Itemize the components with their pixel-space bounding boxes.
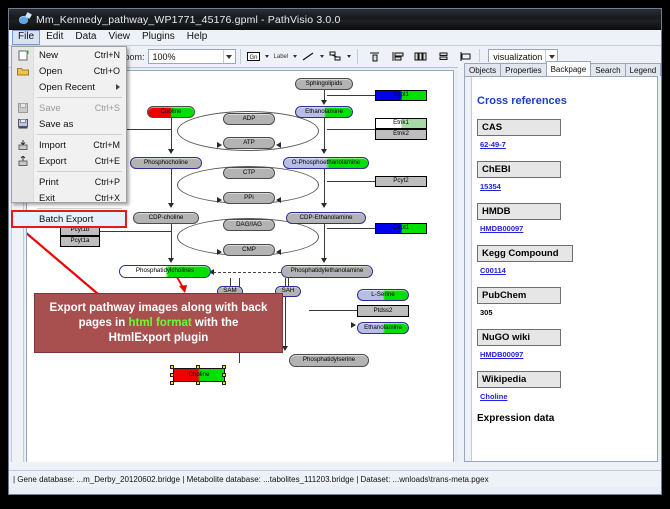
callout-line2-suffix: with the <box>192 317 239 329</box>
callout-line1: Export pathway images along with back <box>50 302 268 314</box>
distribute-vertical-icon[interactable] <box>435 49 451 65</box>
submenu-chevron-right-icon <box>116 84 120 90</box>
file-menu-open-label: Open <box>34 66 94 77</box>
arrow-loop-ppi-right <box>276 197 281 203</box>
file-menu-item-open-recent[interactable]: Open Recent <box>12 79 126 95</box>
statusbar-spacer <box>9 462 661 470</box>
node-ethanolamine-bottom[interactable]: Ethanolamine <box>357 322 409 334</box>
node-label: Ethanolamine <box>305 109 343 115</box>
arrow-to-ethanolamine-release <box>351 322 356 328</box>
label-chevron-down-icon[interactable] <box>290 49 299 65</box>
svg-text:Gn: Gn <box>250 55 258 61</box>
arrow-to-cdpethanolamine <box>321 203 327 208</box>
file-menu-batch-export-label: Batch Export <box>34 214 126 225</box>
menu-help[interactable]: Help <box>181 30 214 45</box>
open-folder-icon <box>12 63 34 79</box>
statusbar: | Gene database: ...m_Derby_20120602.bri… <box>9 470 661 487</box>
callout-line2-prefix: pages in <box>79 317 129 329</box>
node-ctp[interactable]: CTP <box>223 167 275 179</box>
edge-ophospho-cdpetn <box>324 169 325 205</box>
file-menu-item-new[interactable]: New Ctrl+N <box>12 47 126 63</box>
node-choline-top[interactable]: Choline <box>147 106 195 118</box>
xref-block-hmdb: HMDB HMDB00097 <box>477 203 655 233</box>
xref-block-wikipedia: Wikipedia Choline <box>477 371 655 401</box>
node-phosphatidylethanolamine[interactable]: Phosphatidylethanolamine <box>281 265 373 278</box>
node-label: CMP <box>242 247 256 253</box>
gene-label: Ptdss2 <box>374 308 393 314</box>
file-menu-item-exit[interactable]: Exit Ctrl+X <box>12 190 126 206</box>
side-panel-tabs: Objects Properties Backpage Search Legen… <box>464 62 658 77</box>
xref-source-wikipedia: Wikipedia <box>477 371 561 388</box>
gene-label: Etnk1 <box>393 120 409 126</box>
visualization-value: visualization <box>493 52 545 62</box>
xref-value-cas[interactable]: 62-49-7 <box>480 140 655 149</box>
file-menu-exit-label: Exit <box>34 193 95 204</box>
export-icon <box>12 153 34 169</box>
file-menu-import-shortcut: Ctrl+M <box>93 140 126 150</box>
edge-choline-phosphocholine <box>171 118 172 152</box>
interaction-tool-icon[interactable] <box>327 49 343 65</box>
file-menu-separator-3 <box>37 171 122 172</box>
selection-handle-e[interactable] <box>222 373 226 377</box>
callout-line2-highlight: html format <box>128 317 191 329</box>
gene-label: Etnk2 <box>393 131 409 137</box>
xref-value-wikipedia[interactable]: Choline <box>480 392 655 401</box>
xref-block-kegg: Kegg Compound C00114 <box>477 245 655 275</box>
file-menu-item-save: Save Ctrl+S <box>12 100 126 116</box>
file-menu-save-as-label: Save as <box>34 119 120 130</box>
node-dag-iag[interactable]: DAG/IAG <box>223 219 275 231</box>
blank-icon <box>12 79 34 95</box>
zoom-combobox[interactable]: 100% <box>148 49 236 64</box>
selection-handle-w[interactable] <box>170 373 174 377</box>
node-adp[interactable]: ADP <box>223 113 275 125</box>
node-sphingolipids[interactable]: Sphingolipids <box>295 78 353 90</box>
file-menu-save-label: Save <box>34 103 95 114</box>
xref-source-kegg: Kegg Compound <box>477 245 573 262</box>
label-tool-text: Label <box>274 54 289 60</box>
xref-value-kegg[interactable]: C00114 <box>480 266 655 275</box>
node-label: ATP <box>243 140 255 146</box>
file-menu-print-shortcut: Ctrl+P <box>95 177 126 187</box>
file-menu-separator-2 <box>37 134 122 135</box>
pathvisio-icon <box>18 13 31 26</box>
node-cmp[interactable]: CMP <box>223 244 275 256</box>
gene-label: Sgpl1 <box>393 92 409 98</box>
xref-block-nugo: NuGO wiki HMDB00097 <box>477 329 655 359</box>
arrow-to-ophosphoethanolamine <box>321 149 327 154</box>
file-menu-print-label: Print <box>34 177 95 188</box>
line-tool-icon[interactable] <box>300 49 316 65</box>
arrow-loop-cmp-left <box>217 249 222 255</box>
xref-value-pubchem: 305 <box>480 308 655 317</box>
datanode-chevron-down-icon[interactable] <box>263 49 272 65</box>
file-menu-separator-1 <box>37 97 122 98</box>
menubar: File Edit Data View Plugins Help <box>9 30 661 46</box>
xref-source-chebi: ChEBI <box>477 161 561 178</box>
node-label: Ethanolamine <box>364 325 402 331</box>
arrow-loop-atp-right <box>276 142 281 148</box>
file-menu-item-save-as[interactable]: Save as <box>12 116 126 132</box>
zoom-value: 100% <box>153 52 223 62</box>
node-choline-selected[interactable]: Choline <box>173 368 225 382</box>
import-icon <box>12 137 34 153</box>
datanode-tool-icon[interactable]: Gn <box>246 49 262 65</box>
xref-source-hmdb: HMDB <box>477 203 561 220</box>
node-label: Choline <box>189 372 210 378</box>
node-phosphatidylserine[interactable]: Phosphatidylserine <box>289 354 369 367</box>
node-label: CTP <box>243 170 255 176</box>
edge-ethanolamine-ophospho <box>324 118 325 152</box>
gene-ptdss2[interactable]: Ptdss2 <box>357 305 409 317</box>
node-label: Phosphocholine <box>144 160 188 166</box>
gene-cept1[interactable]: Cept1 <box>375 223 427 234</box>
zoom-chevron-down-icon[interactable] <box>223 50 235 63</box>
xref-block-chebi: ChEBI 15354 <box>477 161 655 191</box>
file-menu-save-shortcut: Ctrl+S <box>95 103 126 113</box>
tab-legend[interactable]: Legend <box>625 63 662 76</box>
node-l-serine[interactable]: L-Serine <box>357 289 409 301</box>
blank-icon-4 <box>12 211 34 227</box>
tab-objects[interactable]: Objects <box>464 63 501 76</box>
xref-source-nugo: NuGO wiki <box>477 329 561 346</box>
node-label: O-Phosphoethanolamine <box>292 160 360 166</box>
gene-pcyt2[interactable]: Pcyt2 <box>375 176 427 187</box>
selection-handle-s[interactable] <box>196 381 200 385</box>
save-disk-icon <box>12 100 34 116</box>
toolbar-divider <box>240 49 241 64</box>
xref-value-chebi[interactable]: 15354 <box>480 182 655 191</box>
xref-value-nugo[interactable]: HMDB00097 <box>480 350 655 359</box>
gene-etnk1[interactable]: Etnk1 <box>375 118 427 129</box>
distribute-horizontal-icon[interactable] <box>412 49 428 65</box>
file-menu-exit-shortcut: Ctrl+X <box>95 193 126 203</box>
node-cdp-ethanolamine[interactable]: CDP-Ethanolamine <box>286 212 366 224</box>
arrow-to-cdpcholine <box>168 203 174 208</box>
annotation-callout: Export pathway images along with back pa… <box>34 293 283 353</box>
xref-value-hmdb[interactable]: HMDB00097 <box>480 224 655 233</box>
file-menu-new-shortcut: Ctrl+N <box>94 50 126 60</box>
node-label: CDP-Ethanolamine <box>300 215 353 221</box>
cross-references-title: Cross references <box>477 95 655 107</box>
tab-backpage[interactable]: Backpage <box>546 61 592 76</box>
align-top-icon[interactable] <box>366 49 382 65</box>
edge-ptdss2-connector <box>309 310 357 311</box>
selection-handle-n[interactable] <box>196 365 200 369</box>
node-label: DAG/IAG <box>236 222 262 228</box>
file-menu-dropdown[interactable]: New Ctrl+N Open Ctrl+O Open Recent Save … <box>11 46 127 203</box>
selection-handle-se[interactable] <box>222 381 226 385</box>
arrow-loop-atp-left <box>217 142 222 148</box>
menu-data[interactable]: Data <box>69 30 102 45</box>
edge-cdpetn-pe <box>324 224 325 260</box>
file-menu-open-shortcut: Ctrl+O <box>94 66 126 76</box>
edge-gene-pcyt2 <box>327 181 375 182</box>
blank-icon-2 <box>12 174 34 190</box>
tab-search[interactable]: Search <box>590 63 625 76</box>
gene-etnk2[interactable]: Etnk2 <box>375 129 427 140</box>
arrow-to-ethanolamine <box>321 100 327 105</box>
node-label: SAH <box>282 288 295 294</box>
interaction-chevron-down-icon[interactable] <box>344 49 353 65</box>
edge-phosphocholine-cdpcholine <box>171 169 172 205</box>
node-label: Choline <box>161 109 182 115</box>
node-label: L-Serine <box>371 292 394 298</box>
file-menu-item-export[interactable]: Export Ctrl+E <box>12 153 126 169</box>
menu-edit[interactable]: Edit <box>40 30 69 45</box>
file-menu-export-label: Export <box>34 156 95 167</box>
arrow-loop-cmp-right <box>276 249 281 255</box>
selection-handle-ne[interactable] <box>222 365 226 369</box>
gene-sgpl1[interactable]: Sgpl1 <box>375 90 427 101</box>
blank-icon-3 <box>12 190 34 206</box>
right-side-panel: Objects Properties Backpage Search Legen… <box>458 62 658 470</box>
node-o-phosphoethanolamine[interactable]: O-Phosphoethanolamine <box>283 157 369 169</box>
window-titlebar: Mm_Kennedy_pathway_WP1771_45176.gpml - P… <box>9 9 661 30</box>
node-ethanolamine-top[interactable]: Ethanolamine <box>295 106 353 118</box>
file-menu-import-label: Import <box>34 140 93 151</box>
arrow-to-phosphatidylethanolamine <box>321 258 327 263</box>
selection-handle-nw[interactable] <box>170 365 174 369</box>
tab-properties[interactable]: Properties <box>500 63 546 76</box>
node-label: Sphingolipids <box>306 81 343 87</box>
menu-file[interactable]: File <box>12 30 40 45</box>
menu-view[interactable]: View <box>102 30 136 45</box>
callout-line3: HtmlExport plugin <box>109 332 209 344</box>
backpage-scrollbar[interactable] <box>465 77 472 461</box>
line-chevron-down-icon[interactable] <box>317 49 326 65</box>
node-phosphocholine[interactable]: Phosphocholine <box>130 157 202 169</box>
gene-label: Cept1 <box>393 225 410 231</box>
arrow-to-phosphocholine <box>168 149 174 154</box>
statusbar-text: | Gene database: ...m_Derby_20120602.bri… <box>13 475 489 484</box>
edge-gene-etnk <box>327 129 375 130</box>
file-menu-export-shortcut: Ctrl+E <box>95 156 126 166</box>
xref-source-cas: CAS <box>477 119 561 136</box>
backpage-content: Cross references CAS 62-49-7 ChEBI 15354… <box>464 77 658 462</box>
menu-plugins[interactable]: Plugins <box>136 30 181 45</box>
node-label: ADP <box>243 116 256 122</box>
expression-data-title: Expression data <box>477 413 655 424</box>
label-tool-icon[interactable]: Label <box>272 54 291 60</box>
toolbar-divider-2 <box>357 49 358 64</box>
edge-gene-cept1 <box>327 228 375 229</box>
arrow-loop-ppi-left <box>217 197 222 203</box>
gene-label: Pcyt2 <box>393 178 408 184</box>
align-left-icon[interactable] <box>389 49 405 65</box>
file-menu-open-recent-label: Open Recent <box>34 82 116 93</box>
file-menu-new-label: New <box>34 50 94 61</box>
screenshot-root: Mm_Kennedy_pathway_WP1771_45176.gpml - P… <box>0 0 670 509</box>
file-menu-item-batch-export[interactable]: Batch Export <box>12 211 126 227</box>
new-document-icon <box>12 47 34 63</box>
edge-gene-sgpl1 <box>327 95 375 96</box>
file-menu-separator-4 <box>37 208 122 209</box>
file-menu-item-open[interactable]: Open Ctrl+O <box>12 63 126 79</box>
file-menu-item-import[interactable]: Import Ctrl+M <box>12 137 126 153</box>
file-menu-item-print[interactable]: Print Ctrl+P <box>12 174 126 190</box>
selection-handle-sw[interactable] <box>170 381 174 385</box>
node-ppi[interactable]: PPi <box>223 192 275 204</box>
xref-source-pubchem: PubChem <box>477 287 561 304</box>
save-as-icon <box>12 116 34 132</box>
window-title: Mm_Kennedy_pathway_WP1771_45176.gpml - P… <box>36 14 340 26</box>
node-label: Phosphatidylserine <box>303 357 355 363</box>
xref-block-cas: CAS 62-49-7 <box>477 119 655 149</box>
node-atp[interactable]: ATP <box>223 137 275 149</box>
node-label: Phosphatidylethanolamine <box>291 268 364 274</box>
xref-block-pubchem: PubChem 305 <box>477 287 655 317</box>
node-label: PPi <box>244 195 254 201</box>
